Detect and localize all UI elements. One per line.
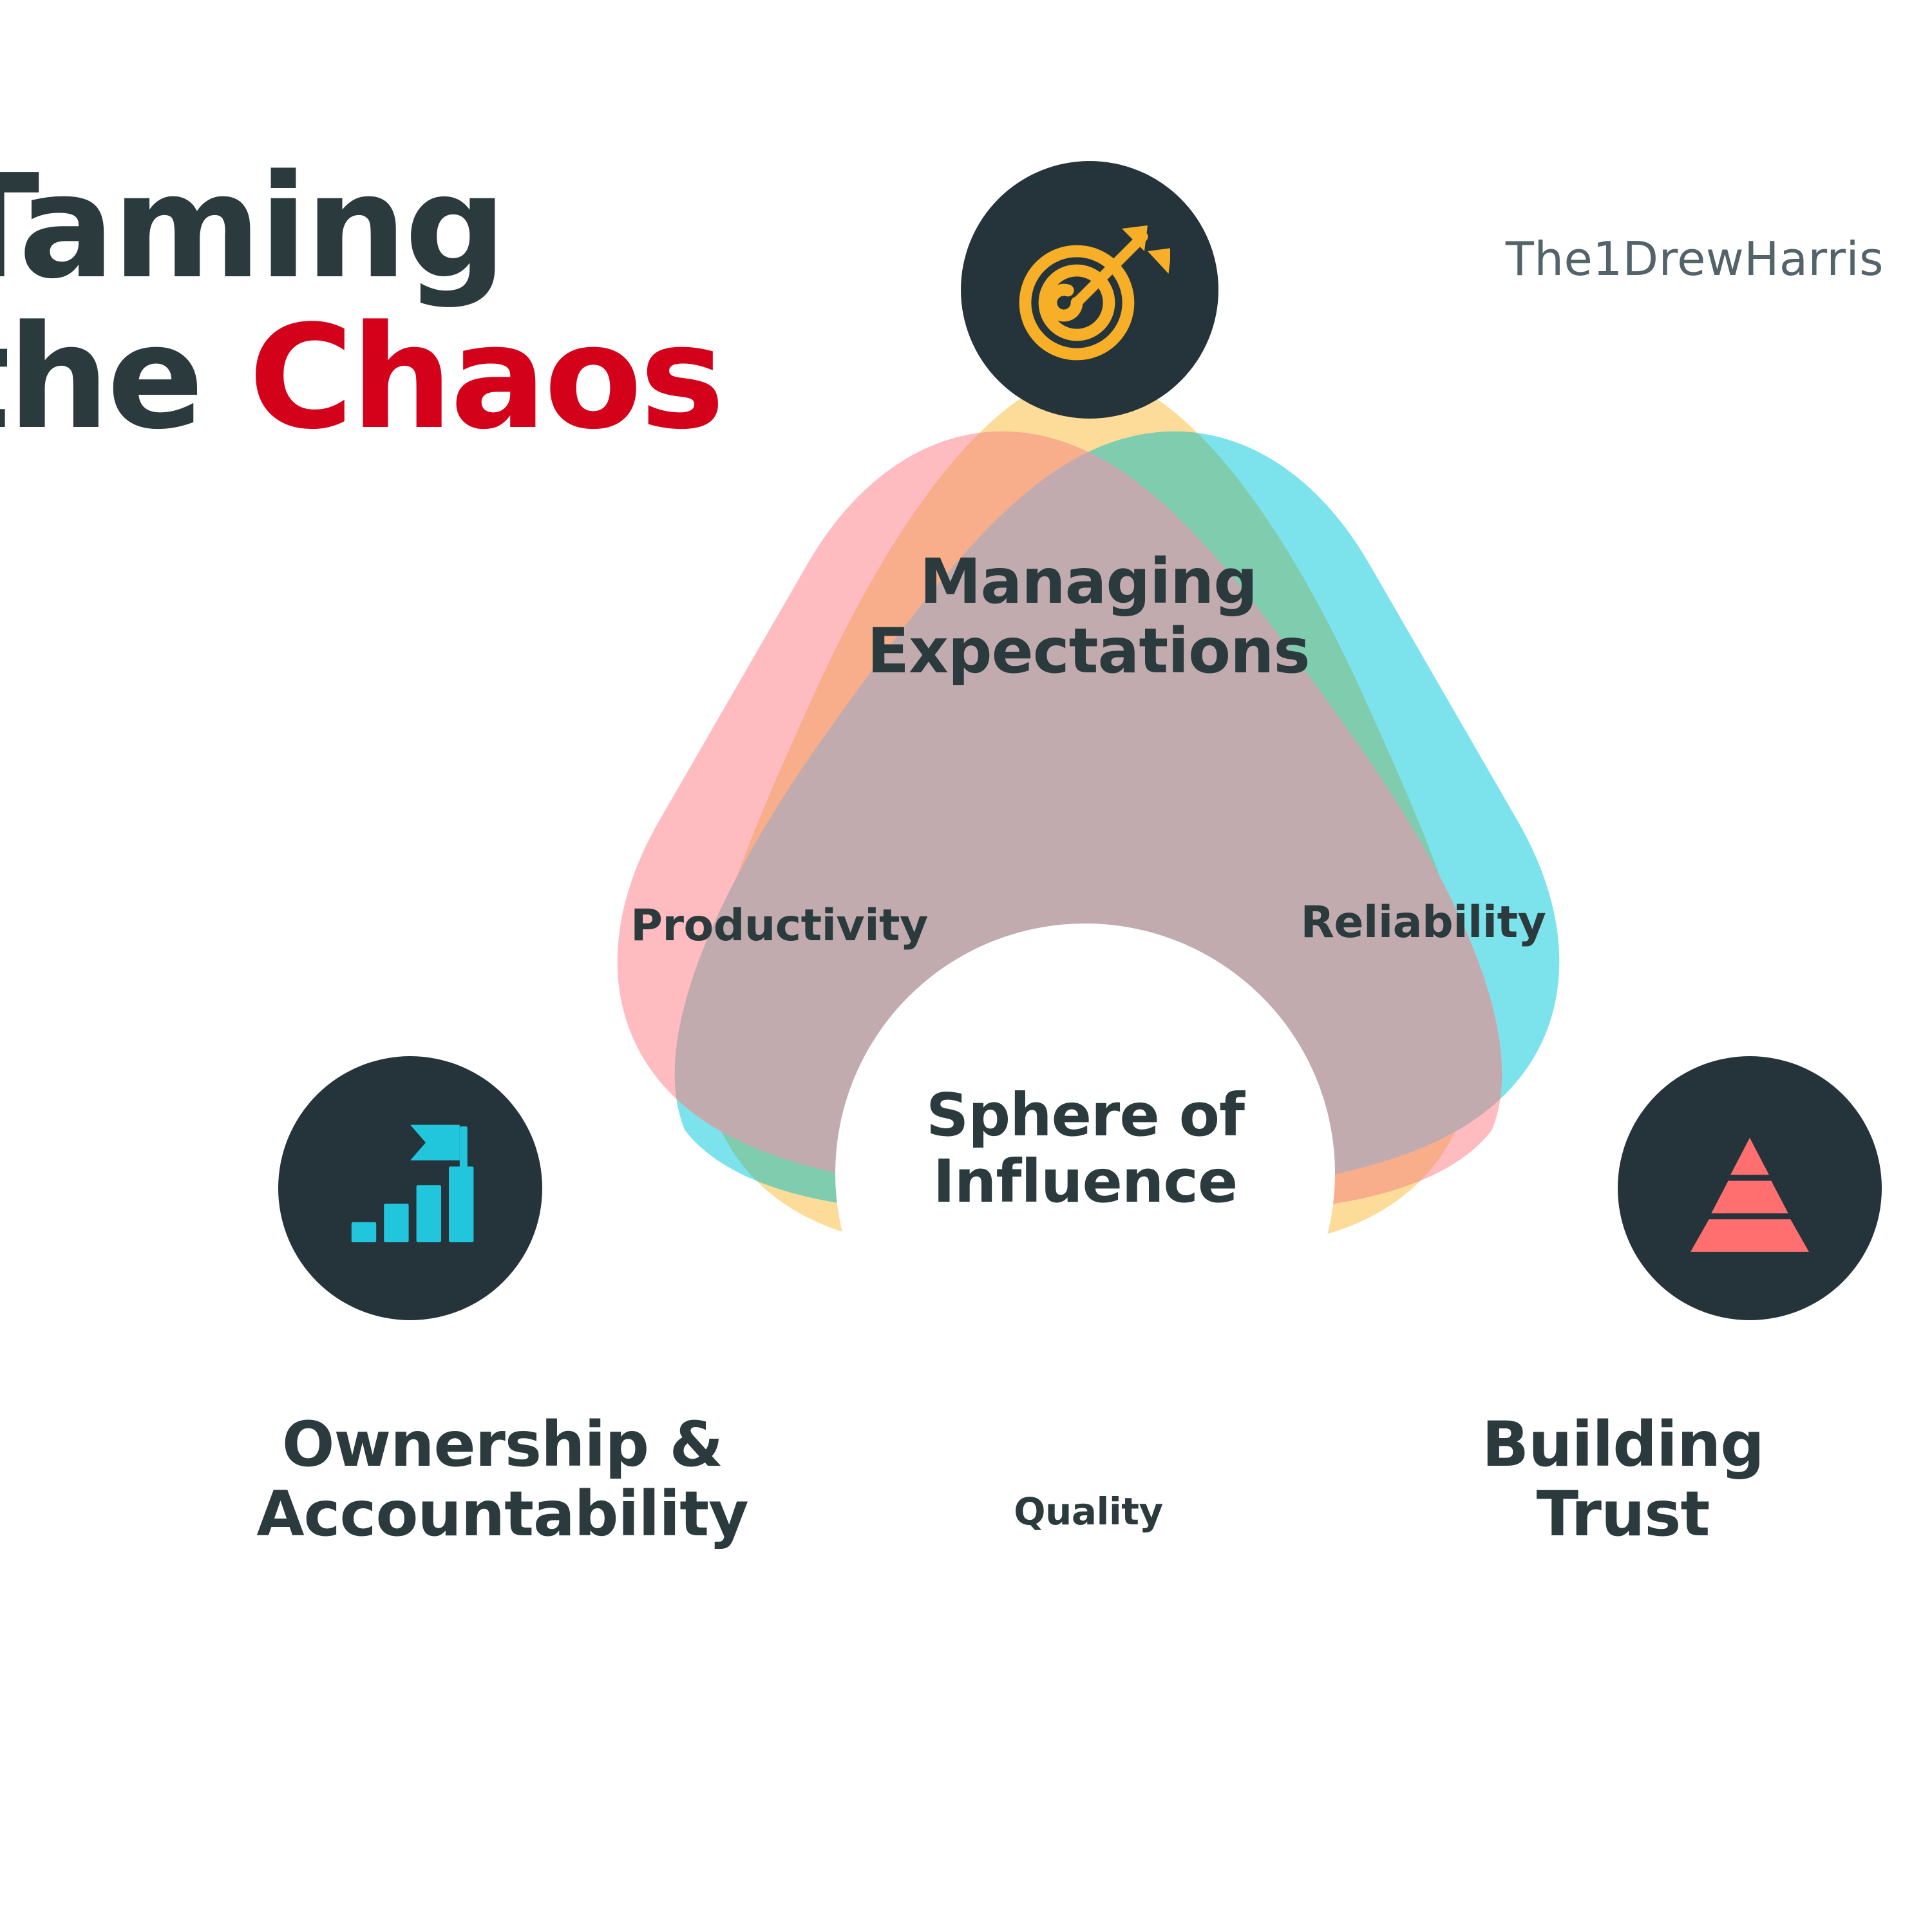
badge-managing-expectations[interactable] [961,161,1218,419]
label-ownership-accountability: Ownership & Accountability [161,1410,844,1549]
label-building-line-2: Trust [1359,1480,1887,1549]
label-ownership-line-1: Ownership & [161,1410,844,1480]
label-sphere-of-influence: Sphere of Influence [834,1082,1336,1215]
label-sphere-line-1: Sphere of [834,1082,1336,1148]
label-managing-expectations: Managing Expectations [766,547,1410,686]
growth-bars-flag-icon [333,1111,488,1265]
slide-canvas: Taming the Chaos The1DrewHarris [0,0,1932,1932]
target-icon [1009,209,1170,370]
label-building-line-1: Building [1359,1410,1887,1480]
badge-building-trust[interactable] [1618,1056,1882,1320]
label-ownership-line-2: Accountability [161,1480,844,1549]
label-quality: Quality [889,1491,1288,1533]
badge-ownership-accountability[interactable] [278,1056,542,1320]
label-building-trust: Building Trust [1359,1410,1887,1549]
label-productivity: Productivity [483,902,1075,951]
label-reliability: Reliability [1185,898,1662,947]
label-sphere-line-2: Influence [834,1148,1336,1215]
label-managing-line-2: Expectations [766,617,1410,687]
pyramid-icon [1676,1114,1824,1262]
label-managing-line-1: Managing [766,547,1410,617]
